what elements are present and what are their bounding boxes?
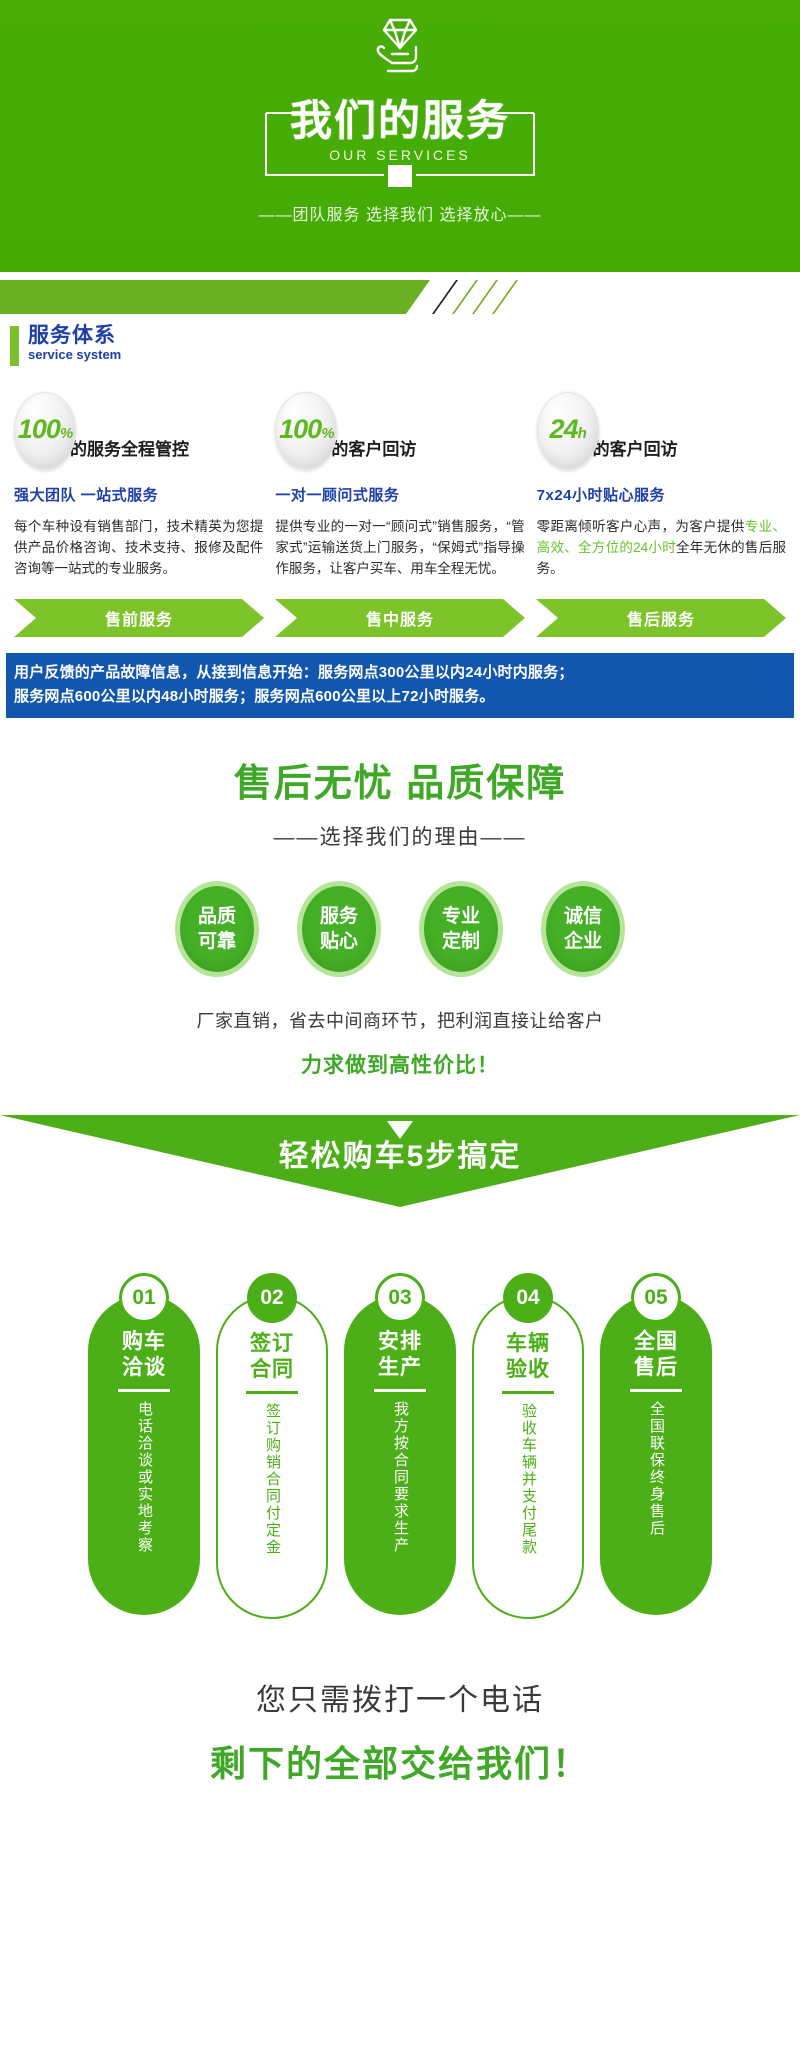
circle-line-1: 专业 [442,904,480,929]
badge-number: 100 [18,414,60,444]
step-description: 全国联保终身售后 [644,1401,668,1597]
circle-line-2: 可靠 [198,929,236,954]
reason-circle-quality: 品质 可靠 [175,881,259,977]
value-for-money-line: 力求做到高性价比！ [0,1049,800,1079]
reasons-title: 售后无忧 品质保障 [0,752,800,807]
step-description: 签订购销合同付定金 [260,1403,284,1599]
chevron-label: 售后服务 [627,606,695,630]
service-stage-chevrons: 售前服务 售中服务 售后服务 [0,599,800,637]
step-title-line-1: 全国 [634,1329,678,1355]
diamond-in-hand-icon [368,14,432,85]
circle-line-2: 企业 [564,929,602,954]
step-number: 05 [631,1273,681,1323]
step-title-line-1: 安排 [378,1329,422,1355]
chevron-aftersale[interactable]: 售后服务 [536,599,786,637]
step-05: 05 全国 售后 全国联保终身售后 [600,1273,712,1619]
badge-unit: % [60,425,72,442]
circle-line-2: 定制 [442,929,480,954]
band-stripe-2 [472,280,498,314]
step-title: 全国 售后 [634,1329,678,1381]
step-02: 02 签订 合同 签订购销合同付定金 [216,1273,328,1619]
badge-number: 24 [550,414,578,444]
badge-ellipse: 100% [14,392,76,470]
hero-subtitle-en: OUR SERVICES [264,147,536,163]
badge-number: 100 [279,414,321,444]
reason-circle-custom: 专业 定制 [419,881,503,977]
badge-body: 每个车种设有销售部门，技术精英为您提供产品价格咨询、技术支持、报修及配件咨询等一… [14,516,263,579]
step-number: 03 [375,1273,425,1323]
purchase-steps: 01 购车 洽谈 电话洽谈或实地考察 02 签订 合同 签订购销合同付定金 03… [0,1273,800,1619]
service-system-band [0,280,800,314]
band-stripe-3 [492,280,518,314]
hero-tagline: ——团队服务 选择我们 选择放心—— [259,201,542,225]
step-03: 03 安排 生产 我方按合同要求生产 [344,1273,456,1619]
service-system-title-en: service system [28,347,121,363]
circle-line-1: 服务 [320,904,358,929]
step-title: 签订 合同 [250,1331,294,1383]
step-number: 01 [119,1273,169,1323]
heading-accent-bar [10,326,19,366]
badge-subtitle: 一对一顾问式服务 [275,484,524,505]
step-description: 验收车辆并支付尾款 [516,1403,540,1599]
step-title-line-2: 洽谈 [122,1355,166,1381]
step-title-line-2: 验收 [506,1357,550,1383]
footer-line-1: 您只需拨打一个电话 [0,1675,800,1719]
service-system-title-cn: 服务体系 [28,324,121,347]
badge-ellipse: 24h [537,392,599,470]
step-title: 购车 洽谈 [122,1329,166,1381]
chevron-presale[interactable]: 售前服务 [14,599,264,637]
badge-label: 的客户回访 [331,435,416,460]
reason-circle-service: 服务 贴心 [297,881,381,977]
service-band-main [0,280,430,314]
badge-column: 24h 的客户回访 7x24小时贴心服务 零距离倾听客户心声，为客户提供专业、高… [531,392,792,579]
footer-line-2: 剩下的全部交给我们！ [0,1735,800,1787]
step-description: 我方按合同要求生产 [388,1401,412,1597]
down-arrow-icon [387,1121,413,1139]
step-04: 04 车辆 验收 验收车辆并支付尾款 [472,1273,584,1619]
step-01: 01 购车 洽谈 电话洽谈或实地考察 [88,1273,200,1619]
step-title-line-2: 生产 [378,1355,422,1381]
service-policy-banner: 用户反馈的产品故障信息，从接到信息开始：服务网点300公里以内24小时内服务； … [6,653,794,718]
reasons-subtitle: ——选择我们的理由—— [0,821,800,851]
badge-label: 的服务全程管控 [70,435,189,460]
band-stripe-1 [452,280,478,314]
circle-line-1: 诚信 [564,904,602,929]
step-number: 02 [247,1273,297,1323]
badge-body: 提供专业的一对一“顾问式”销售服务，“管家式”运输送货上门服务，“保姆式”指导操… [275,516,524,579]
service-system-heading: 服务体系 service system [0,324,800,366]
circle-line-2: 贴心 [320,929,358,954]
badge-body-part: 零距离倾听客户心声，为客户提供 [537,519,745,534]
footer-cta: 您只需拨打一个电话 剩下的全部交给我们！ [0,1675,800,1787]
policy-line-1: 用户反馈的产品故障信息，从接到信息开始：服务网点300公里以内24小时内服务； [14,661,786,685]
step-description: 电话洽谈或实地考察 [132,1401,156,1597]
step-divider [246,1391,298,1394]
badge-unit: % [321,425,333,442]
hero-title-frame: 我们的服务 OUR SERVICES [264,91,536,187]
factory-direct-line: 厂家直销，省去中间商环节，把利润直接让给客户 [0,1007,800,1033]
circle-line-1: 品质 [198,904,236,929]
step-title: 安排 生产 [378,1329,422,1381]
badge-subtitle: 强大团队 一站式服务 [14,484,263,505]
badge-columns: 100% 的服务全程管控 强大团队 一站式服务 每个车种设有销售部门，技术精英为… [0,392,800,579]
badge-label: 的客户回访 [593,435,678,460]
badge-column: 100% 的客户回访 一对一顾问式服务 提供专业的一对一“顾问式”销售服务，“管… [269,392,530,579]
policy-line-2: 服务网点600公里以内48小时服务；服务网点600公里以上72小时服务。 [14,685,786,709]
badge-column: 100% 的服务全程管控 强大团队 一站式服务 每个车种设有销售部门，技术精英为… [8,392,269,579]
step-title-line-2: 合同 [250,1357,294,1383]
hero-title: 我们的服务 [264,99,536,143]
step-divider [502,1391,554,1394]
step-title-line-1: 签订 [250,1331,294,1357]
reason-circles: 品质 可靠 服务 贴心 专业 定制 诚信 企业 [0,881,800,977]
step-title-line-1: 购车 [122,1329,166,1355]
badge-subtitle: 7x24小时贴心服务 [537,484,786,505]
chevron-insale[interactable]: 售中服务 [275,599,525,637]
chevron-label: 售中服务 [366,606,434,630]
hero-banner: 我们的服务 OUR SERVICES ——团队服务 选择我们 选择放心—— [0,0,800,272]
chevron-label: 售前服务 [105,606,173,630]
step-divider [630,1389,682,1392]
step-divider [374,1389,426,1392]
step-title-line-2: 售后 [634,1355,678,1381]
step-number: 04 [503,1273,553,1323]
step-title: 车辆 验收 [506,1331,550,1383]
band-stripe-dark [432,280,458,314]
badge-body-rich: 零距离倾听客户心声，为客户提供专业、高效、全方位的24小时全年无休的售后服务。 [537,516,786,579]
badge-unit: h [578,425,586,442]
steps-banner: 轻松购车5步搞定 [0,1115,800,1207]
reason-circle-integrity: 诚信 企业 [541,881,625,977]
badge-ellipse: 100% [275,392,337,470]
step-title-line-1: 车辆 [506,1331,550,1357]
step-divider [118,1389,170,1392]
